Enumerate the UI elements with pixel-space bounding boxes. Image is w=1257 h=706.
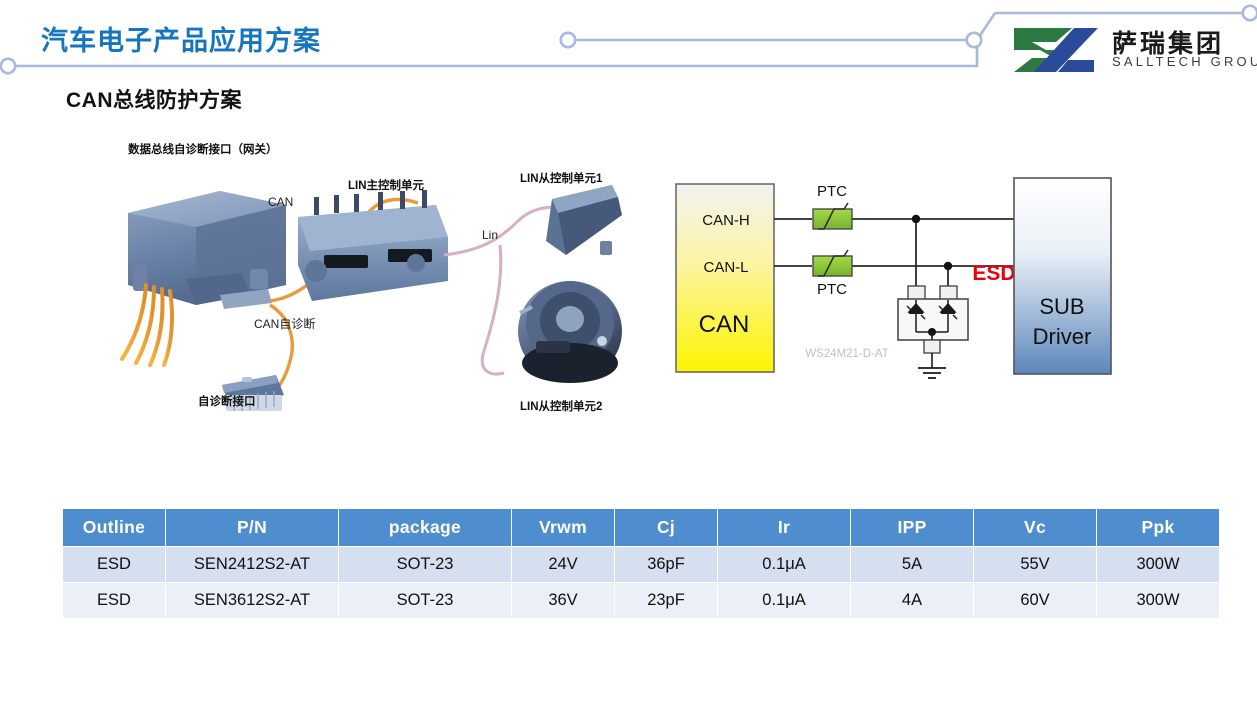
can-l-label: CAN-L bbox=[703, 259, 748, 276]
can-block-label: CAN bbox=[699, 311, 750, 338]
ptc-top-label: PTC bbox=[817, 183, 847, 200]
label-lin-slave2: LIN从控制单元2 bbox=[520, 398, 602, 414]
cell-outline: ESD bbox=[63, 583, 166, 619]
cell-outline: ESD bbox=[63, 547, 166, 583]
esd-device-graphic bbox=[898, 286, 968, 378]
sub-driver-line1: SUB bbox=[1039, 294, 1084, 319]
deco-circle-mid bbox=[561, 33, 575, 47]
lin-slave2-graphic bbox=[518, 281, 622, 383]
col-header-outline: Outline bbox=[63, 509, 166, 547]
lin-slave1-graphic bbox=[546, 185, 622, 255]
label-lin-slave1: LIN从控制单元1 bbox=[520, 170, 602, 186]
logo-name-en: SALLTECH GROUP bbox=[1112, 54, 1257, 69]
cell-vc: 55V bbox=[974, 547, 1097, 583]
esd-part-number: WS24M21-D-AT bbox=[805, 348, 889, 360]
col-header-package: package bbox=[339, 509, 512, 547]
cell-pn: SEN3612S2-AT bbox=[166, 583, 339, 619]
col-header-pn: P/N bbox=[166, 509, 339, 547]
label-gateway: 数据总线自诊断接口（网关） bbox=[128, 141, 278, 157]
label-diag-port: 自诊断接口 bbox=[198, 393, 256, 409]
table-header-row: Outline P/N package Vrwm Cj Ir IPP Vc Pp… bbox=[63, 509, 1220, 547]
deco-circle-right bbox=[1243, 6, 1257, 20]
cell-ipp: 5A bbox=[851, 547, 974, 583]
cell-vrwm: 36V bbox=[512, 583, 615, 619]
deco-circle-left bbox=[1, 59, 15, 73]
automotive-bus-illustration: 数据总线自诊断接口（网关） CAN CAN自诊断 自诊断接口 LIN主控制单元 … bbox=[100, 145, 660, 425]
col-header-ipp: IPP bbox=[851, 509, 974, 547]
ptc-bottom-component bbox=[813, 250, 852, 276]
page-title: 汽车电子产品应用方案 bbox=[41, 19, 321, 58]
section-title: CAN总线防护方案 bbox=[66, 84, 242, 114]
cell-vc: 60V bbox=[974, 583, 1097, 619]
cell-ppk: 300W bbox=[1097, 547, 1220, 583]
cell-pn: SEN2412S2-AT bbox=[166, 547, 339, 583]
company-logo: 萨瑞集团 SALLTECH GROUP bbox=[1012, 24, 1250, 76]
junction-dot-h bbox=[912, 215, 920, 223]
ptc-bottom-label: PTC bbox=[817, 281, 847, 298]
col-header-cj: Cj bbox=[615, 509, 718, 547]
cell-package: SOT-23 bbox=[339, 583, 512, 619]
salltech-logo-icon bbox=[1012, 26, 1104, 74]
cell-ppk: 300W bbox=[1097, 583, 1220, 619]
slide-root: 汽车电子产品应用方案 萨瑞集团 SALLTECH GROUP CAN总线防护方案 bbox=[0, 0, 1257, 706]
col-header-ir: Ir bbox=[718, 509, 851, 547]
junction-dot-l bbox=[944, 262, 952, 270]
esd-label: ESD bbox=[972, 262, 1015, 285]
col-header-vrwm: Vrwm bbox=[512, 509, 615, 547]
cell-ir: 0.1μA bbox=[718, 583, 851, 619]
label-lin-master: LIN主控制单元 bbox=[348, 177, 424, 193]
sub-driver-line2: Driver bbox=[1033, 324, 1092, 349]
deco-circle-junction bbox=[967, 33, 981, 47]
circuit-schematic: CAN-H CAN-L CAN PTC PTC bbox=[672, 172, 1127, 397]
col-header-ppk: Ppk bbox=[1097, 509, 1220, 547]
cell-cj: 36pF bbox=[615, 547, 718, 583]
can-h-label: CAN-H bbox=[702, 212, 750, 229]
label-can-diag: CAN自诊断 bbox=[254, 315, 315, 332]
cell-vrwm: 24V bbox=[512, 547, 615, 583]
table-row: ESD SEN3612S2-AT SOT-23 36V 23pF 0.1μA 4… bbox=[63, 583, 1220, 619]
gateway-ecu-graphic bbox=[122, 191, 286, 365]
label-lin: Lin bbox=[482, 228, 498, 242]
cell-ipp: 4A bbox=[851, 583, 974, 619]
table-row: ESD SEN2412S2-AT SOT-23 24V 36pF 0.1μA 5… bbox=[63, 547, 1220, 583]
col-header-vc: Vc bbox=[974, 509, 1097, 547]
cell-ir: 0.1μA bbox=[718, 547, 851, 583]
spec-table: Outline P/N package Vrwm Cj Ir IPP Vc Pp… bbox=[62, 508, 1220, 619]
ptc-top-component bbox=[813, 203, 852, 229]
lin-wire-slave2 bbox=[482, 245, 504, 374]
can-protection-circuit: CAN-H CAN-L CAN PTC PTC bbox=[672, 172, 1127, 397]
label-can: CAN bbox=[268, 195, 293, 209]
cell-cj: 23pF bbox=[615, 583, 718, 619]
cell-package: SOT-23 bbox=[339, 547, 512, 583]
